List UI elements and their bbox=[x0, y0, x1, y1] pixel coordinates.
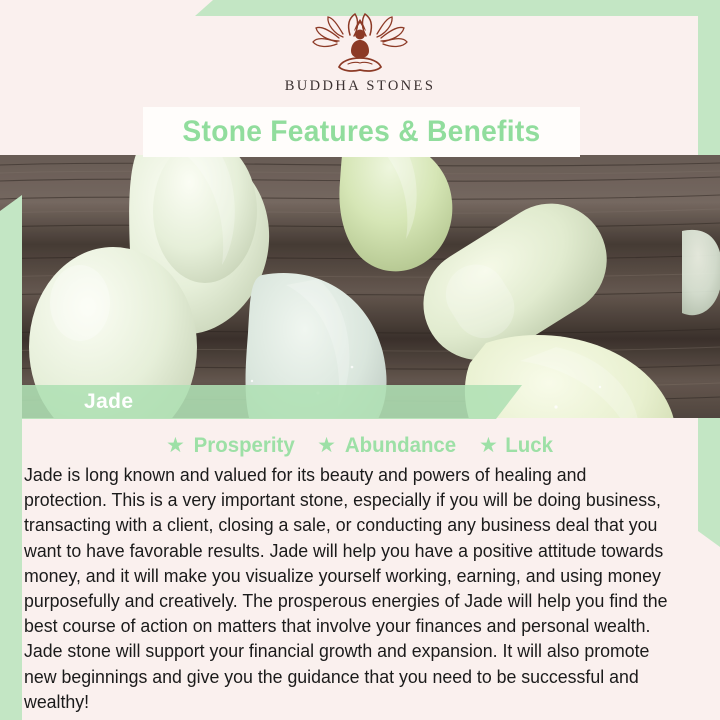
star-icon: ★ bbox=[317, 435, 336, 456]
stone-name-band: Jade bbox=[22, 385, 522, 419]
title-banner: Stone Features & Benefits bbox=[143, 107, 580, 157]
stone-name-label: Jade bbox=[84, 390, 133, 414]
benefit-label: Luck bbox=[505, 433, 553, 458]
lotus-meditation-figure-icon bbox=[308, 12, 412, 74]
decorative-left-bar bbox=[0, 195, 22, 720]
star-icon: ★ bbox=[166, 435, 185, 456]
jade-stones-photo bbox=[0, 155, 720, 418]
benefits-row: ★ Prosperity ★ Abundance ★ Luck bbox=[0, 430, 720, 460]
benefit-label: Prosperity bbox=[193, 433, 294, 458]
benefit-label: Abundance bbox=[345, 433, 456, 458]
benefit-item: ★ Abundance bbox=[317, 433, 459, 458]
star-icon: ★ bbox=[479, 435, 498, 456]
benefit-item: ★ Prosperity bbox=[166, 433, 297, 458]
infographic-page: BUDDHA STONES Stone Features & Benefits bbox=[0, 0, 720, 720]
stone-description-paragraph: Jade is long known and valued for its be… bbox=[24, 462, 672, 714]
brand-name: BUDDHA STONES bbox=[285, 78, 436, 95]
brand-logo-block: BUDDHA STONES bbox=[0, 12, 720, 110]
page-title: Stone Features & Benefits bbox=[182, 115, 540, 149]
benefit-item: ★ Luck bbox=[479, 433, 554, 458]
